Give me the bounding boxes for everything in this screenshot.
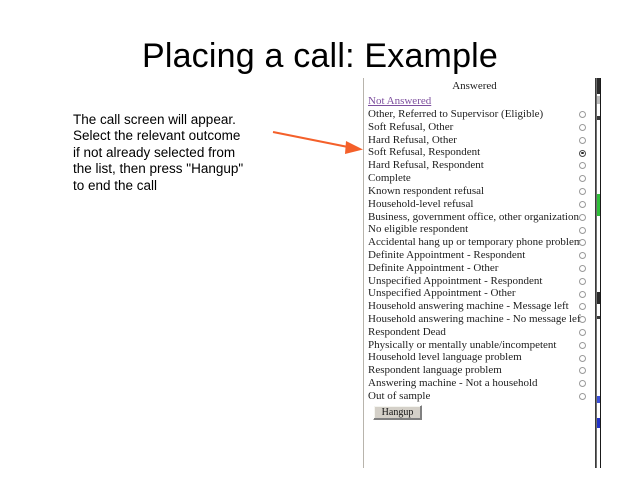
instruction-line: the list, then press "Hangup"	[73, 161, 283, 177]
sliver-mark-dark-2	[597, 292, 600, 304]
outcome-label: Known respondent refusal	[368, 185, 484, 198]
outcome-label: Soft Refusal, Respondent	[368, 146, 480, 159]
outcome-radio-button[interactable]	[579, 124, 586, 131]
outcome-list-item[interactable]: Complete	[364, 172, 595, 185]
instruction-line: if not already selected from	[73, 145, 283, 161]
sliver-mark-gray	[597, 96, 600, 104]
outcome-list-item[interactable]: Respondent language problem	[364, 364, 595, 377]
outcome-list-item[interactable]: Household answering machine - No message…	[364, 313, 595, 326]
outcome-list-item[interactable]: Hard Refusal, Other	[364, 134, 595, 147]
call-outcome-list: Other, Referred to Supervisor (Eligible)…	[364, 108, 595, 403]
outcome-list-item[interactable]: No eligible respondent	[364, 223, 595, 236]
outcome-label: Hard Refusal, Respondent	[368, 159, 484, 172]
outcome-radio-button[interactable]	[579, 214, 586, 221]
sliver-mark-dark	[597, 78, 600, 94]
outcome-label: Accidental hang up or temporary phone pr…	[368, 236, 582, 249]
sliver-mark-dot	[597, 116, 600, 120]
outcome-list-item[interactable]: Household answering machine - Message le…	[364, 300, 595, 313]
callout-arrow-icon	[268, 124, 372, 160]
page-title: Placing a call: Example	[0, 36, 640, 76]
adjacent-window-sliver	[596, 78, 601, 468]
not-answered-link[interactable]: Not Answered	[368, 95, 431, 108]
sliver-mark-blue-2	[597, 418, 600, 428]
outcome-list-item[interactable]: Soft Refusal, Other	[364, 121, 595, 134]
outcome-radio-button[interactable]	[579, 291, 586, 298]
sliver-mark-green	[597, 194, 600, 216]
outcome-radio-button[interactable]	[579, 150, 586, 157]
outcome-radio-button[interactable]	[579, 380, 586, 387]
outcome-label: Household answering machine - No message…	[368, 313, 584, 326]
outcome-label: Out of sample	[368, 390, 430, 403]
outcome-radio-button[interactable]	[579, 278, 586, 285]
outcome-label: Soft Refusal, Other	[368, 121, 453, 134]
outcome-radio-button[interactable]	[579, 329, 586, 336]
outcome-list-item[interactable]: Business, government office, other organ…	[364, 211, 595, 224]
outcome-list-item[interactable]: Hard Refusal, Respondent	[364, 159, 595, 172]
outcome-label: Unspecified Appointment - Respondent	[368, 275, 542, 288]
outcome-radio-button[interactable]	[579, 265, 586, 272]
outcome-radio-button[interactable]	[579, 252, 586, 259]
outcome-list-item[interactable]: Answering machine - Not a household	[364, 377, 595, 390]
outcome-radio-button[interactable]	[579, 316, 586, 323]
outcome-label: Household-level refusal	[368, 198, 473, 211]
call-screen-content: Answered Not Answered Other, Referred to…	[364, 78, 595, 468]
outcome-list-item[interactable]: Household-level refusal	[364, 198, 595, 211]
instruction-line: The call screen will appear.	[73, 112, 283, 128]
outcome-radio-button[interactable]	[579, 137, 586, 144]
outcome-list-item[interactable]: Household level language problem	[364, 351, 595, 364]
outcome-list-item[interactable]: Soft Refusal, Respondent	[364, 146, 595, 159]
outcome-label: Definite Appointment - Other	[368, 262, 498, 275]
outcome-list-item[interactable]: Out of sample	[364, 390, 595, 403]
outcome-label: Respondent language problem	[368, 364, 502, 377]
outcome-radio-button[interactable]	[579, 303, 586, 310]
hangup-button[interactable]: Hangup	[373, 405, 422, 420]
outcome-radio-button[interactable]	[579, 175, 586, 182]
outcome-radio-button[interactable]	[579, 227, 586, 234]
outcome-list-item[interactable]: Unspecified Appointment - Other	[364, 287, 595, 300]
outcome-label: Hard Refusal, Other	[368, 134, 457, 147]
outcome-label: Household answering machine - Message le…	[368, 300, 569, 313]
outcome-list-item[interactable]: Known respondent refusal	[364, 185, 595, 198]
sliver-mark-dot-2	[597, 316, 600, 319]
outcome-label: Complete	[368, 172, 411, 185]
outcome-label: Respondent Dead	[368, 326, 446, 339]
outcome-list-item[interactable]: Unspecified Appointment - Respondent	[364, 275, 595, 288]
call-screen-window: Answered Not Answered Other, Referred to…	[363, 78, 596, 468]
answered-section-heading: Answered	[367, 80, 582, 93]
instruction-text-block: The call screen will appear. Select the …	[73, 112, 283, 194]
outcome-label: Business, government office, other organ…	[368, 211, 579, 224]
outcome-list-item[interactable]: Other, Referred to Supervisor (Eligible)	[364, 108, 595, 121]
instruction-line: to end the call	[73, 178, 283, 194]
outcome-label: Answering machine - Not a household	[368, 377, 538, 390]
outcome-label: Household level language problem	[368, 351, 522, 364]
outcome-radio-button[interactable]	[579, 162, 586, 169]
outcome-radio-button[interactable]	[579, 393, 586, 400]
outcome-radio-button[interactable]	[579, 239, 586, 246]
outcome-radio-button[interactable]	[579, 111, 586, 118]
outcome-radio-button[interactable]	[579, 188, 586, 195]
sliver-mark-blue	[597, 396, 600, 403]
instruction-line: Select the relevant outcome	[73, 128, 283, 144]
outcome-label: No eligible respondent	[368, 223, 468, 236]
presentation-slide: Placing a call: Example The call screen …	[0, 0, 640, 480]
outcome-radio-button[interactable]	[579, 367, 586, 374]
outcome-radio-button[interactable]	[579, 201, 586, 208]
outcome-label: Other, Referred to Supervisor (Eligible)	[368, 108, 543, 121]
outcome-list-item[interactable]: Accidental hang up or temporary phone pr…	[364, 236, 595, 249]
outcome-list-item[interactable]: Respondent Dead	[364, 326, 595, 339]
outcome-label: Unspecified Appointment - Other	[368, 287, 516, 300]
outcome-label: Definite Appointment - Respondent	[368, 249, 525, 262]
outcome-list-item[interactable]: Definite Appointment - Respondent	[364, 249, 595, 262]
outcome-radio-button[interactable]	[579, 342, 586, 349]
outcome-list-item[interactable]: Definite Appointment - Other	[364, 262, 595, 275]
outcome-label: Physically or mentally unable/incompeten…	[368, 339, 556, 352]
outcome-list-item[interactable]: Physically or mentally unable/incompeten…	[364, 339, 595, 352]
outcome-radio-button[interactable]	[579, 355, 586, 362]
